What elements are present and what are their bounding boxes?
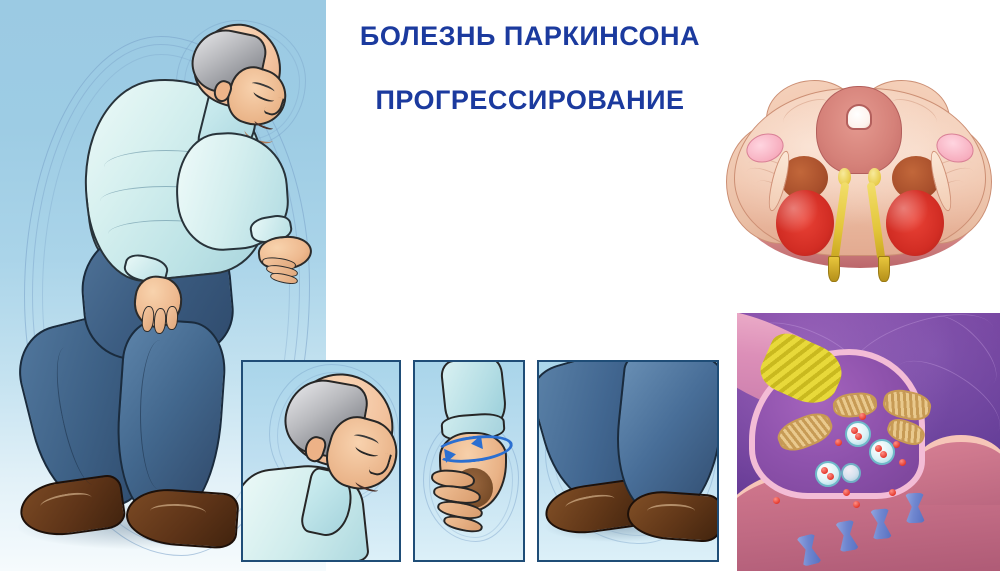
red-nucleus-left — [776, 190, 834, 256]
trouser-crease — [140, 340, 180, 490]
dopamine-molecule — [843, 489, 850, 496]
postsynaptic-membrane-bump — [913, 435, 1000, 505]
red-nucleus-right — [886, 190, 944, 256]
dopamine-molecule — [773, 497, 780, 504]
synaptic-vesicle — [841, 463, 861, 483]
rotation-arrowhead-right — [470, 435, 483, 450]
shoe-highlight — [647, 504, 695, 518]
dopamine-molecule — [859, 413, 866, 420]
detail-panel-hand-tremor — [413, 360, 525, 562]
dopamine-molecule — [853, 501, 860, 508]
title-block: БОЛЕЗНЬ ПАРКИНСОНА ПРОГРЕССИРОВАНИЕ — [330, 22, 730, 115]
dopamine-molecule — [893, 441, 900, 448]
dopamine-molecule — [889, 489, 896, 496]
detail-panel-stooped-head — [241, 360, 401, 562]
cerebral-aqueduct — [846, 104, 872, 130]
nerve-terminal-left — [828, 256, 840, 282]
dopamine-molecule — [827, 473, 834, 480]
infographic-canvas: БОЛЕЗНЬ ПАРКИНСОНА ПРОГРЕССИРОВАНИЕ — [0, 0, 1000, 571]
dopamine-molecule — [880, 451, 887, 458]
midbrain-cross-section-illustration — [728, 74, 992, 290]
page-title-line-1: БОЛЕЗНЬ ПАРКИНСОНА — [330, 22, 730, 52]
dopamine-molecule — [899, 459, 906, 466]
detail-panel-shuffling-gait — [537, 360, 719, 562]
nerve-terminal-right — [878, 256, 890, 282]
dopaminergic-synapse-illustration — [737, 313, 1000, 571]
dopamine-molecule — [821, 467, 828, 474]
tectum — [816, 86, 902, 174]
dopamine-molecule — [855, 433, 862, 440]
page-title-line-2: ПРОГРЕССИРОВАНИЕ — [330, 86, 730, 116]
dopamine-molecule — [835, 439, 842, 446]
rotation-arrowhead-left — [444, 447, 457, 462]
